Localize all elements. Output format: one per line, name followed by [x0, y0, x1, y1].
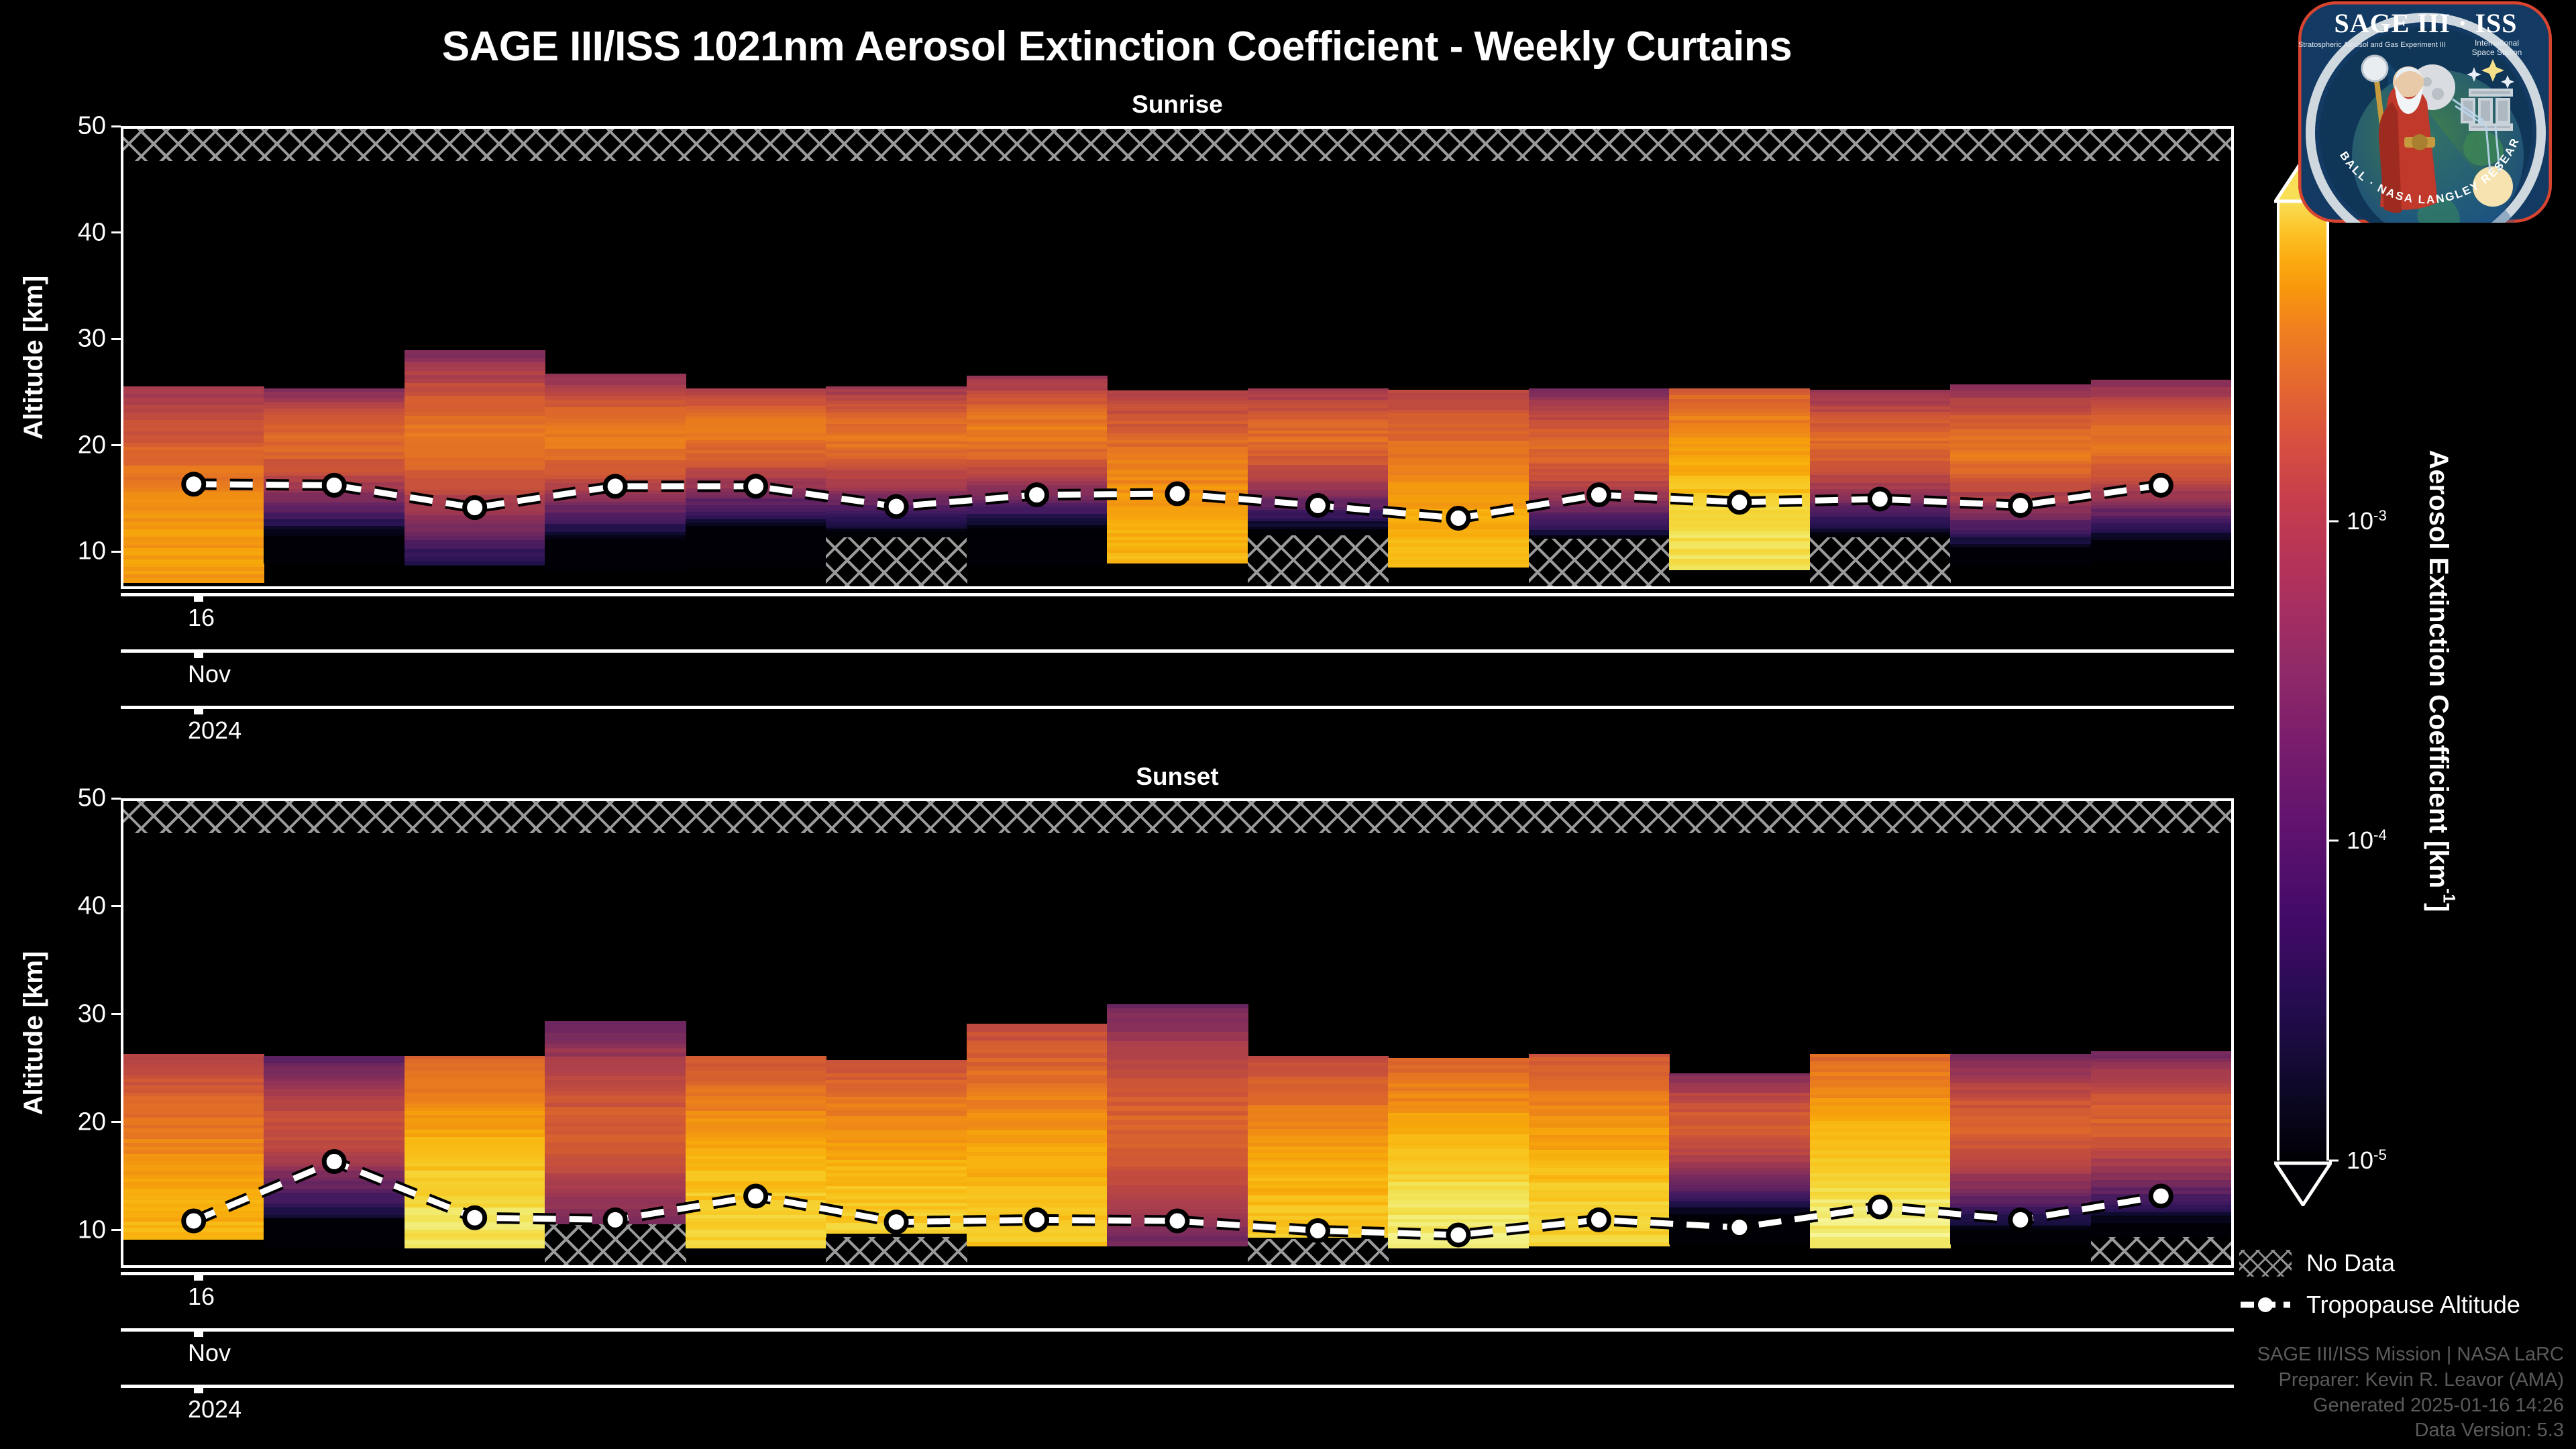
sage-iii-iss-mission-patch-logo: SAGE III · ISS Stratospheric Aerosol and… [2294, 1, 2556, 223]
y-tick-20: 20 [78, 1108, 121, 1136]
y-tick-40: 40 [78, 892, 121, 920]
heatmap-column [1950, 801, 2091, 1265]
tropopause-line-icon [2239, 1291, 2292, 1318]
plot-area-sunrise [121, 126, 2234, 589]
heatmap-column [123, 129, 264, 586]
y-tick-10: 10 [78, 1216, 121, 1244]
colorbar-gradient [2277, 201, 2329, 1161]
heatmap-column [264, 129, 405, 586]
date-label-day: 16 [188, 604, 215, 632]
svg-text:Space Station: Space Station [2472, 48, 2522, 57]
heatmap-cell [1107, 1241, 1248, 1246]
legend-label-no-data: No Data [2306, 1249, 2395, 1277]
date-label-month: Nov [188, 660, 231, 688]
heatmap-cell [1107, 559, 1248, 563]
date-tick-year [194, 1385, 203, 1393]
no-data-hatch-icon [2239, 1250, 2292, 1277]
footer-credits: SAGE III/ISS Mission | NASA LaRC Prepare… [2257, 1342, 2564, 1444]
date-tick-month [194, 649, 203, 658]
heatmap-column [826, 129, 967, 586]
heatmap-column [2091, 129, 2232, 586]
date-label-year: 2024 [188, 716, 241, 745]
figure-canvas: SAGE III/ISS 1021nm Aerosol Extinction C… [0, 0, 2576, 1449]
svg-text:International: International [2475, 38, 2519, 48]
footer-line-version: Data Version: 5.3 [2257, 1418, 2564, 1444]
plot-area-sunset [121, 798, 2234, 1268]
heatmap-cell [1529, 1242, 1670, 1247]
date-level-rule-month [121, 1328, 2234, 1332]
date-level-rule-month [121, 649, 2234, 653]
no-data-region [1248, 1239, 1389, 1265]
heatmap-column [123, 801, 264, 1265]
heatmap-cell [967, 1242, 1108, 1246]
heatmap-column [1248, 801, 1389, 1265]
colorbar-tick-1e-5: 10-5 [2329, 1146, 2387, 1175]
no-data-region [545, 1224, 686, 1265]
heatmap-column [686, 801, 826, 1265]
y-tick-40: 40 [78, 218, 121, 247]
y-axis-label-sunrise: Altitude [km] [19, 276, 49, 439]
no-data-region [826, 1237, 967, 1265]
date-label-day: 16 [188, 1283, 215, 1311]
heatmap-cell [1388, 563, 1529, 568]
heatmap-column [686, 129, 826, 586]
svg-text:SAGE III · ISS: SAGE III · ISS [2334, 8, 2517, 38]
heatmap-cell [545, 566, 686, 570]
panel-sunrise: Sunrise Altitude [km] 1020304050 [121, 126, 2234, 589]
date-label-month: Nov [188, 1339, 231, 1367]
heatmap-column [1388, 801, 1529, 1265]
heatmap-cell [1669, 566, 1810, 570]
colorbar-tick-1e-4: 10-4 [2329, 826, 2387, 855]
heatmap-cell [686, 1244, 826, 1249]
heatmap-column [2091, 801, 2232, 1265]
heatmap-cell [686, 563, 826, 568]
heatmap-cell [1248, 1234, 1389, 1238]
legend: No Data Tropopause Altitude [2239, 1249, 2568, 1330]
heatmap-column [405, 801, 545, 1265]
date-level-rule-year [121, 1385, 2234, 1388]
legend-item-tropopause: Tropopause Altitude [2239, 1291, 2520, 1319]
date-level-rule-day [121, 593, 2234, 596]
heatmap-column [545, 129, 686, 586]
heatmap-column [545, 801, 686, 1265]
colorbar: 10-2 10-3 10-4 10-5 Aerosol Extinction C… [2277, 201, 2329, 1161]
heatmap-column [1388, 129, 1529, 586]
no-data-region [2091, 1237, 2232, 1265]
heatmap-column [1529, 129, 1670, 586]
heatmap-cell [264, 1244, 405, 1249]
date-tick-year [194, 706, 203, 714]
mission-patch-svg: SAGE III · ISS Stratospheric Aerosol and… [2294, 1, 2556, 223]
heatmap-column [1669, 129, 1810, 586]
footer-line-preparer: Preparer: Kevin R. Leavor (AMA) [2257, 1368, 2564, 1393]
date-level-rule-year [121, 706, 2234, 709]
svg-text:Stratospheric Aerosol and Gas: Stratospheric Aerosol and Gas Experiment… [2298, 41, 2446, 49]
y-tick-10: 10 [78, 537, 121, 566]
page-title: SAGE III/ISS 1021nm Aerosol Extinction C… [0, 23, 2234, 70]
legend-item-no-data: No Data [2239, 1249, 2395, 1277]
no-data-region [1810, 537, 1951, 586]
heatmap-cell [1669, 1240, 1810, 1244]
date-tick-month [194, 1328, 203, 1337]
no-data-band-top [123, 801, 2231, 833]
heatmap-cell [1950, 1240, 2091, 1244]
no-data-band-top [123, 129, 2231, 161]
heatmap-column [1950, 129, 2091, 586]
heatmap-cell [123, 578, 264, 583]
date-axis-sunset: 16 Nov 2024 [121, 1272, 2234, 1406]
heatmap-column [1529, 801, 1670, 1265]
heatmap-cell [1950, 561, 2091, 566]
date-axis-sunrise: 16 Nov 2024 [121, 593, 2234, 727]
panel-title-sunset: Sunset [121, 763, 2234, 791]
heatmap-cell [967, 561, 1108, 566]
heatmap-column [967, 129, 1108, 586]
no-data-region [1248, 535, 1389, 586]
heatmap-column [1248, 129, 1389, 586]
heatmap-column [405, 129, 545, 586]
colorbar-extend-min-icon [2274, 1161, 2332, 1206]
y-tick-50: 50 [78, 112, 121, 141]
colorbar-tick-1e-3: 10-3 [2329, 507, 2387, 535]
footer-line-generated: Generated 2025-01-16 14:26 [2257, 1393, 2564, 1419]
date-tick-day [194, 593, 203, 602]
heatmap-column [264, 801, 405, 1265]
y-tick-20: 20 [78, 431, 121, 460]
y-tick-30: 30 [78, 1000, 121, 1028]
heatmap-column [826, 801, 967, 1265]
legend-label-tropopause: Tropopause Altitude [2306, 1291, 2520, 1319]
heatmap-cell [2091, 557, 2232, 561]
heatmap-cell [123, 1236, 264, 1240]
heatmap-cell [405, 1244, 545, 1249]
heatmap-column [1107, 129, 1248, 586]
date-level-rule-day [121, 1272, 2234, 1275]
no-data-region [1529, 539, 1670, 586]
y-tick-30: 30 [78, 325, 121, 354]
y-tick-50: 50 [78, 784, 121, 813]
heatmap-cell [826, 1230, 967, 1234]
heatmap-column [1669, 801, 1810, 1265]
date-label-year: 2024 [188, 1395, 241, 1424]
panel-title-sunrise: Sunrise [121, 91, 2234, 119]
heatmap-column [1810, 801, 1951, 1265]
colorbar-label: Aerosol Extinction Coefficient [km-1] [2423, 450, 2457, 912]
heatmap-cell [1388, 1244, 1529, 1248]
heatmap-cell [1810, 1244, 1951, 1249]
y-axis-label-sunset: Altitude [km] [19, 951, 49, 1115]
date-tick-day [194, 1272, 203, 1281]
footer-line-mission: SAGE III/ISS Mission | NASA LaRC [2257, 1342, 2564, 1368]
no-data-region [826, 537, 967, 586]
heatmap-column [967, 801, 1108, 1265]
heatmap-cell [405, 561, 545, 566]
heatmap-column [1107, 801, 1248, 1265]
panel-sunset: Sunset Altitude [km] 1020304050 [121, 798, 2234, 1268]
heatmap-column [1810, 129, 1951, 586]
heatmap-cell [264, 559, 405, 563]
